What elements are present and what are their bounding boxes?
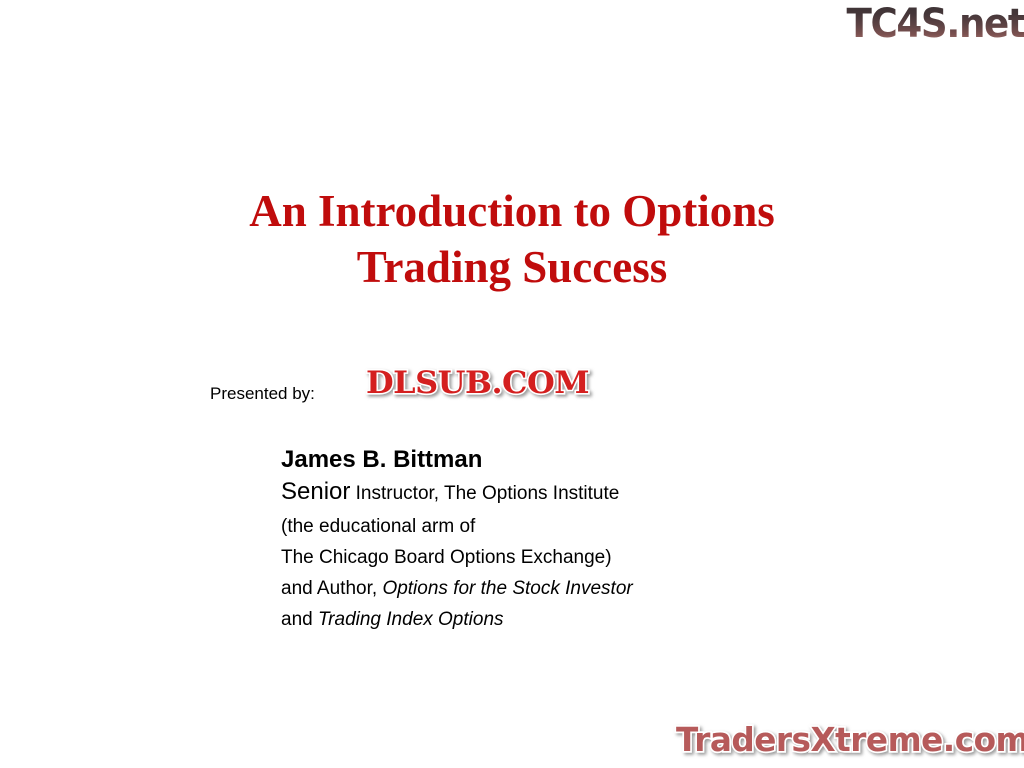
presenter-affiliation-line-1: (the educational arm of xyxy=(281,511,801,542)
presenter-affiliation-line-2: The Chicago Board Options Exchange) xyxy=(281,542,801,573)
author-prefix-1: and Author, xyxy=(281,578,377,599)
presenter-role-rest-text: Instructor, The Options Institute xyxy=(356,483,620,504)
tradersxtreme-watermark-logo: TradersXtreme.com xyxy=(676,718,1024,762)
presenter-role-rest: Instructor, The Options Institute xyxy=(350,483,619,504)
presented-by-label: Presented by: xyxy=(210,384,315,404)
book-title-2: Trading Index Options xyxy=(318,609,504,630)
dlsub-watermark-logo: DLSUB.COM xyxy=(366,363,589,403)
presenter-role-line: Senior Instructor, The Options Institute xyxy=(281,476,801,511)
presenter-author-line-2: and Trading Index Options xyxy=(281,604,801,635)
presenter-role-lead: Senior xyxy=(281,478,350,505)
presentation-slide: TC4S.net An Introduction to Options Trad… xyxy=(0,0,1024,768)
presenter-info-block: James B. Bittman Senior Instructor, The … xyxy=(281,444,801,635)
slide-title-line-1: An Introduction to Options xyxy=(112,183,912,239)
presenter-author-line-1: and Author, Options for the Stock Invest… xyxy=(281,573,801,604)
slide-title: An Introduction to Options Trading Succe… xyxy=(112,183,912,295)
book-title-1: Options for the Stock Investor xyxy=(382,578,632,599)
author-prefix-2: and xyxy=(281,609,313,630)
presenter-name: James B. Bittman xyxy=(281,444,801,476)
slide-title-line-2: Trading Success xyxy=(112,239,912,295)
tc4s-watermark-logo: TC4S.net xyxy=(842,0,1024,48)
